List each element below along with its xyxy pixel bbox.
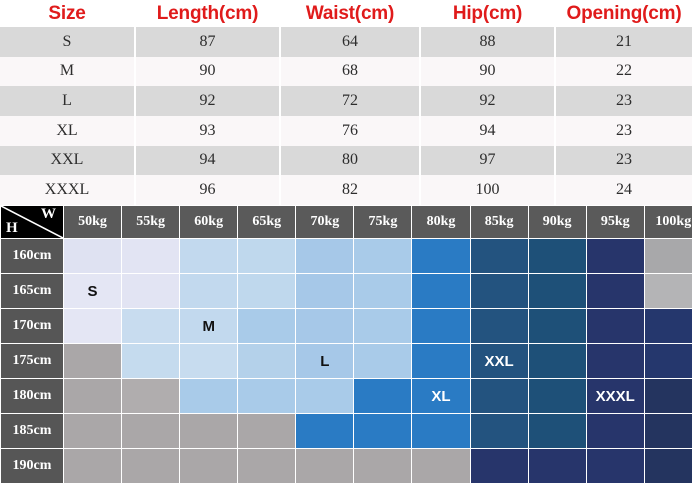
grid-cell[interactable] <box>122 344 179 378</box>
grid-cell[interactable] <box>296 239 353 273</box>
grid-row: 170cmM <box>1 309 692 343</box>
weight-axis-label: W <box>41 206 56 223</box>
size-label: M <box>202 319 215 334</box>
grid-cell[interactable] <box>412 414 469 448</box>
size-label: L <box>320 354 329 369</box>
grid-cell[interactable] <box>238 379 295 413</box>
grid-cell[interactable] <box>587 449 644 483</box>
measurement-cell-size: S <box>0 27 135 57</box>
grid-cell[interactable] <box>296 309 353 343</box>
weight-header-100kg: 100kg <box>645 206 692 238</box>
weight-header-55kg: 55kg <box>122 206 179 238</box>
weight-header-75kg: 75kg <box>354 206 411 238</box>
grid-cell-size-L[interactable]: L <box>296 344 353 378</box>
grid-cell[interactable] <box>471 414 528 448</box>
measurement-col-header-4: Opening(cm) <box>555 0 692 27</box>
height-header-180cm: 180cm <box>1 379 63 413</box>
grid-cell[interactable] <box>587 309 644 343</box>
grid-cell[interactable] <box>180 414 237 448</box>
weight-header-50kg: 50kg <box>64 206 121 238</box>
measurement-cell-waist: 76 <box>280 116 420 146</box>
grid-row: 190cm <box>1 449 692 483</box>
measurement-row: XL93769423 <box>0 116 692 146</box>
weight-header-65kg: 65kg <box>238 206 295 238</box>
measurement-cell-length: 93 <box>135 116 280 146</box>
grid-cell[interactable] <box>587 239 644 273</box>
measurement-cell-length: 94 <box>135 146 280 176</box>
grid-cell[interactable] <box>296 379 353 413</box>
measurement-cell-hip: 90 <box>420 57 555 87</box>
measurement-row: L92729223 <box>0 86 692 116</box>
measurement-col-header-1: Length(cm) <box>135 0 280 27</box>
measurement-cell-hip: 88 <box>420 27 555 57</box>
grid-cell[interactable] <box>238 274 295 308</box>
measurement-row: XXL94809723 <box>0 146 692 176</box>
grid-cell[interactable] <box>471 379 528 413</box>
weight-header-85kg: 85kg <box>471 206 528 238</box>
grid-cell[interactable] <box>64 379 121 413</box>
grid-cell[interactable] <box>122 379 179 413</box>
measurement-cell-opening: 22 <box>555 57 692 87</box>
grid-body: 160cm165cmS170cmM175cmLXXL180cmXLXXXL185… <box>1 239 692 483</box>
height-weight-grid: H W 50kg55kg60kg65kg70kg75kg80kg85kg90kg… <box>0 205 692 484</box>
grid-cell[interactable] <box>122 239 179 273</box>
grid-cell[interactable] <box>238 239 295 273</box>
grid-cell[interactable] <box>122 449 179 483</box>
grid-cell[interactable] <box>529 344 586 378</box>
grid-cell[interactable] <box>180 379 237 413</box>
grid-cell[interactable] <box>354 274 411 308</box>
grid-cell[interactable] <box>529 274 586 308</box>
grid-cell[interactable] <box>180 239 237 273</box>
weight-header-60kg: 60kg <box>180 206 237 238</box>
grid-cell[interactable] <box>412 239 469 273</box>
grid-cell[interactable] <box>645 309 692 343</box>
grid-cell[interactable] <box>64 309 121 343</box>
measurement-cell-size: XXXL <box>0 175 135 205</box>
grid-cell-size-XXXL[interactable]: XXXL <box>587 379 644 413</box>
grid-cell[interactable] <box>238 449 295 483</box>
grid-cell-size-XL[interactable]: XL <box>412 379 469 413</box>
grid-cell[interactable] <box>529 239 586 273</box>
grid-row: 160cm <box>1 239 692 273</box>
height-header-175cm: 175cm <box>1 344 63 378</box>
grid-cell[interactable] <box>471 309 528 343</box>
height-header-185cm: 185cm <box>1 414 63 448</box>
measurement-cell-hip: 97 <box>420 146 555 176</box>
grid-cell[interactable] <box>64 239 121 273</box>
measurement-cell-hip: 94 <box>420 116 555 146</box>
grid-cell[interactable] <box>180 274 237 308</box>
grid-cell[interactable] <box>238 414 295 448</box>
measurement-cell-size: M <box>0 57 135 87</box>
grid-cell[interactable] <box>529 449 586 483</box>
grid-cell-size-M[interactable]: M <box>180 309 237 343</box>
grid-cell[interactable] <box>412 344 469 378</box>
grid-cell[interactable] <box>645 344 692 378</box>
grid-cell[interactable] <box>238 309 295 343</box>
measurement-row: S87648821 <box>0 27 692 57</box>
grid-cell[interactable] <box>412 309 469 343</box>
measurement-cell-length: 96 <box>135 175 280 205</box>
grid-cell[interactable] <box>354 379 411 413</box>
measurement-cell-opening: 23 <box>555 116 692 146</box>
grid-cell[interactable] <box>296 449 353 483</box>
grid-cell[interactable] <box>354 449 411 483</box>
size-chart-page: SizeLength(cm)Waist(cm)Hip(cm)Opening(cm… <box>0 0 692 481</box>
grid-cell[interactable] <box>238 344 295 378</box>
measurement-cell-opening: 21 <box>555 27 692 57</box>
height-header-165cm: 165cm <box>1 274 63 308</box>
grid-row: 180cmXLXXXL <box>1 379 692 413</box>
grid-cell[interactable] <box>354 309 411 343</box>
grid-cell[interactable] <box>645 414 692 448</box>
grid-cell[interactable] <box>354 344 411 378</box>
height-header-160cm: 160cm <box>1 239 63 273</box>
size-label: XL <box>431 389 450 404</box>
measurement-cell-waist: 82 <box>280 175 420 205</box>
measurement-col-header-2: Waist(cm) <box>280 0 420 27</box>
measurement-cell-hip: 92 <box>420 86 555 116</box>
measurement-cell-size: L <box>0 86 135 116</box>
grid-cell[interactable] <box>587 344 644 378</box>
grid-cell[interactable] <box>296 274 353 308</box>
grid-cell[interactable] <box>354 414 411 448</box>
grid-cell-size-S[interactable]: S <box>64 274 121 308</box>
grid-cell[interactable] <box>645 274 692 308</box>
measurement-table: SizeLength(cm)Waist(cm)Hip(cm)Opening(cm… <box>0 0 692 205</box>
grid-cell[interactable] <box>412 449 469 483</box>
grid-cell[interactable] <box>471 449 528 483</box>
measurement-cell-hip: 100 <box>420 175 555 205</box>
grid-cell[interactable] <box>529 379 586 413</box>
measurement-row: XXXL968210024 <box>0 175 692 205</box>
grid-cell[interactable] <box>587 414 644 448</box>
grid-cell[interactable] <box>64 449 121 483</box>
grid-cell[interactable] <box>296 414 353 448</box>
measurement-table-head: SizeLength(cm)Waist(cm)Hip(cm)Opening(cm… <box>0 0 692 27</box>
grid-cell[interactable] <box>354 239 411 273</box>
weight-header-90kg: 90kg <box>529 206 586 238</box>
grid-cell[interactable] <box>529 414 586 448</box>
measurement-header-row: SizeLength(cm)Waist(cm)Hip(cm)Opening(cm… <box>0 0 692 27</box>
measurement-cell-length: 87 <box>135 27 280 57</box>
grid-cell[interactable] <box>471 239 528 273</box>
grid-head: H W 50kg55kg60kg65kg70kg75kg80kg85kg90kg… <box>1 206 692 238</box>
grid-cell[interactable] <box>645 449 692 483</box>
size-label: XXXL <box>596 389 635 404</box>
weight-header-95kg: 95kg <box>587 206 644 238</box>
measurement-col-header-3: Hip(cm) <box>420 0 555 27</box>
grid-row: 175cmLXXL <box>1 344 692 378</box>
grid-cell[interactable] <box>64 414 121 448</box>
grid-cell[interactable] <box>529 309 586 343</box>
grid-cell[interactable] <box>122 414 179 448</box>
measurement-cell-opening: 24 <box>555 175 692 205</box>
axis-corner-cell: H W <box>1 206 63 238</box>
size-recommendation-grid: H W 50kg55kg60kg65kg70kg75kg80kg85kg90kg… <box>0 205 692 481</box>
measurement-cell-waist: 72 <box>280 86 420 116</box>
measurement-cell-waist: 68 <box>280 57 420 87</box>
measurement-col-header-0: Size <box>0 0 135 27</box>
measurement-table-body: S87648821M90689022L92729223XL93769423XXL… <box>0 27 692 205</box>
height-header-190cm: 190cm <box>1 449 63 483</box>
grid-cell[interactable] <box>412 274 469 308</box>
grid-cell[interactable] <box>587 274 644 308</box>
grid-header-row: H W 50kg55kg60kg65kg70kg75kg80kg85kg90kg… <box>1 206 692 238</box>
grid-cell[interactable] <box>471 274 528 308</box>
grid-cell[interactable] <box>645 239 692 273</box>
grid-cell[interactable] <box>122 274 179 308</box>
measurement-cell-opening: 23 <box>555 86 692 116</box>
measurement-cell-length: 92 <box>135 86 280 116</box>
grid-cell[interactable] <box>180 449 237 483</box>
measurement-cell-waist: 64 <box>280 27 420 57</box>
grid-cell[interactable] <box>64 344 121 378</box>
size-label: XXL <box>484 354 513 369</box>
grid-row: 185cm <box>1 414 692 448</box>
grid-cell[interactable] <box>122 309 179 343</box>
weight-header-70kg: 70kg <box>296 206 353 238</box>
measurement-row: M90689022 <box>0 57 692 87</box>
height-header-170cm: 170cm <box>1 309 63 343</box>
measurement-cell-opening: 23 <box>555 146 692 176</box>
weight-header-80kg: 80kg <box>412 206 469 238</box>
measurement-cell-size: XL <box>0 116 135 146</box>
height-axis-label: H <box>6 220 18 237</box>
grid-cell[interactable] <box>645 379 692 413</box>
measurement-cell-length: 90 <box>135 57 280 87</box>
size-label: S <box>88 284 98 299</box>
measurement-cell-waist: 80 <box>280 146 420 176</box>
grid-cell-size-XXL[interactable]: XXL <box>471 344 528 378</box>
grid-row: 165cmS <box>1 274 692 308</box>
grid-cell[interactable] <box>180 344 237 378</box>
measurement-cell-size: XXL <box>0 146 135 176</box>
